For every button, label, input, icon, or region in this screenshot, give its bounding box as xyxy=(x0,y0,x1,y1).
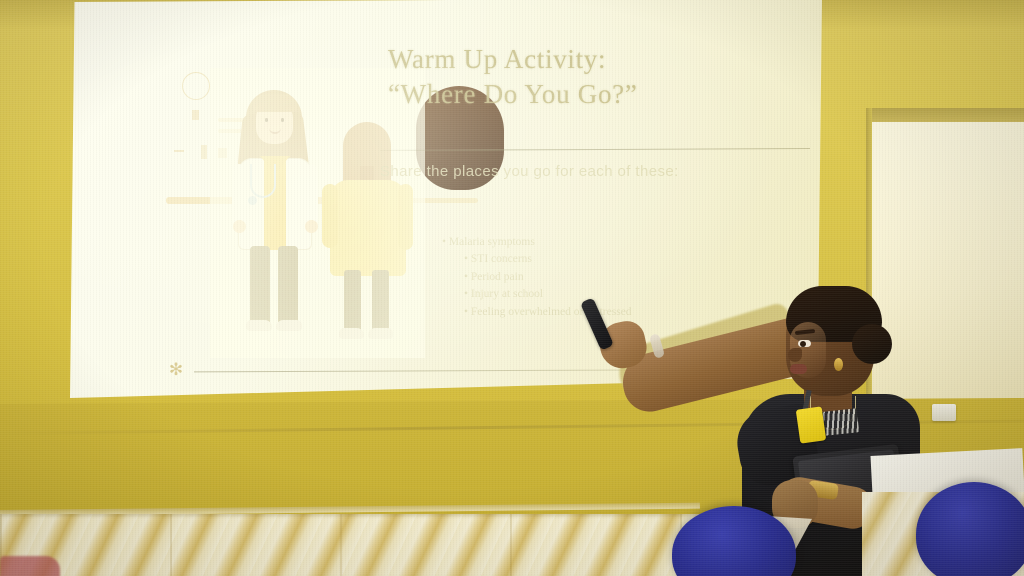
presenter-hair-bun xyxy=(852,324,892,364)
decorative-circle-icon xyxy=(182,72,210,100)
decorative-shape-1 xyxy=(192,110,199,120)
list-item: Period pain xyxy=(442,269,742,286)
photo-scene: Warm Up Activity: “Where Do You Go?” Sha… xyxy=(0,0,1024,576)
asterisk-icon: ✻ xyxy=(168,362,184,378)
earring-icon xyxy=(834,358,843,371)
mouth xyxy=(790,364,807,374)
slide-title-line1: Warm Up Activity: xyxy=(388,42,818,77)
decorative-shape-2 xyxy=(201,145,207,159)
tiled-bench-left xyxy=(0,514,700,576)
foreground-object xyxy=(0,556,60,576)
slide-title: Warm Up Activity: “Where Do You Go?” xyxy=(388,42,818,111)
list-item: STI concerns xyxy=(442,251,742,268)
slide-illustration xyxy=(220,80,410,342)
nose xyxy=(788,348,802,362)
pupil xyxy=(800,341,806,347)
name-badge xyxy=(796,406,826,443)
badge-clip xyxy=(823,408,859,435)
chair-back-foreground-right[interactable] xyxy=(916,482,1024,576)
decorative-tick-icon xyxy=(174,150,184,152)
list-item: Malaria symptoms xyxy=(442,234,742,251)
name-badge-text xyxy=(800,416,820,419)
stethoscope-icon xyxy=(250,164,276,198)
slide-title-line2: “Where Do You Go?” xyxy=(388,77,818,112)
slide-subtitle: Share the places you go for each of thes… xyxy=(380,163,820,180)
alcove-lintel xyxy=(870,108,1024,122)
